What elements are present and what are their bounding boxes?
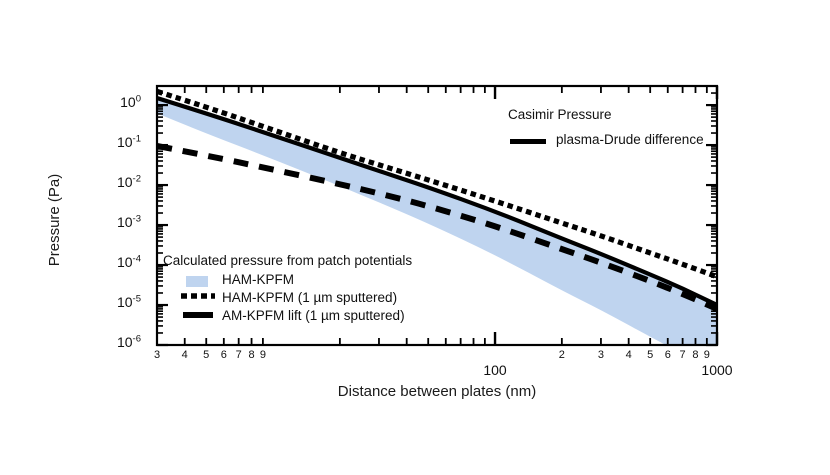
series-line-1 [157,91,717,276]
legend-swatch-dotted [180,292,216,300]
y-tick-label-2: 10-2 [0,174,141,190]
x-axis-title: Distance between plates (nm) [157,383,717,400]
legend-casimir-title: Casimir Pressure [508,107,612,122]
casimir-pressure-chart: Pressure (Pa) Distance between plates (n… [0,0,830,475]
legend-entry-label-0: HAM-KPFM [222,272,294,287]
x-tick-label-major-100: 100 [473,362,517,378]
y-tick-label-3: 10-3 [0,214,141,230]
y-axis-title: Pressure (Pa) [46,10,63,150]
y-tick-label-4: 10-4 [0,254,141,270]
legend-swatch-solid-casimir [510,139,546,144]
x-tick-label-minor-right-7: 9 [685,349,729,361]
legend-casimir-entry-label: plasma-Drude difference [556,132,704,147]
y-tick-label-6: 10-6 [0,334,141,350]
x-tick-label-major-1000: 1000 [695,362,739,378]
y-tick-label-1: 10-1 [0,134,141,150]
legend-swatch-dashed [183,312,213,318]
x-tick-label-minor-left-6: 9 [241,349,285,361]
legend-entry-label-1: HAM-KPFM (1 µm sputtered) [222,290,397,305]
y-tick-label-0: 100 [0,94,141,110]
legend-swatch-band [186,276,208,287]
legend-patch-title: Calculated pressure from patch potential… [163,253,412,268]
plot-canvas [0,0,830,475]
y-tick-label-5: 10-5 [0,294,141,310]
legend-entry-label-2: AM-KPFM lift (1 µm sputtered) [222,308,405,323]
x-tick-label-minor-right-0: 2 [540,349,584,361]
